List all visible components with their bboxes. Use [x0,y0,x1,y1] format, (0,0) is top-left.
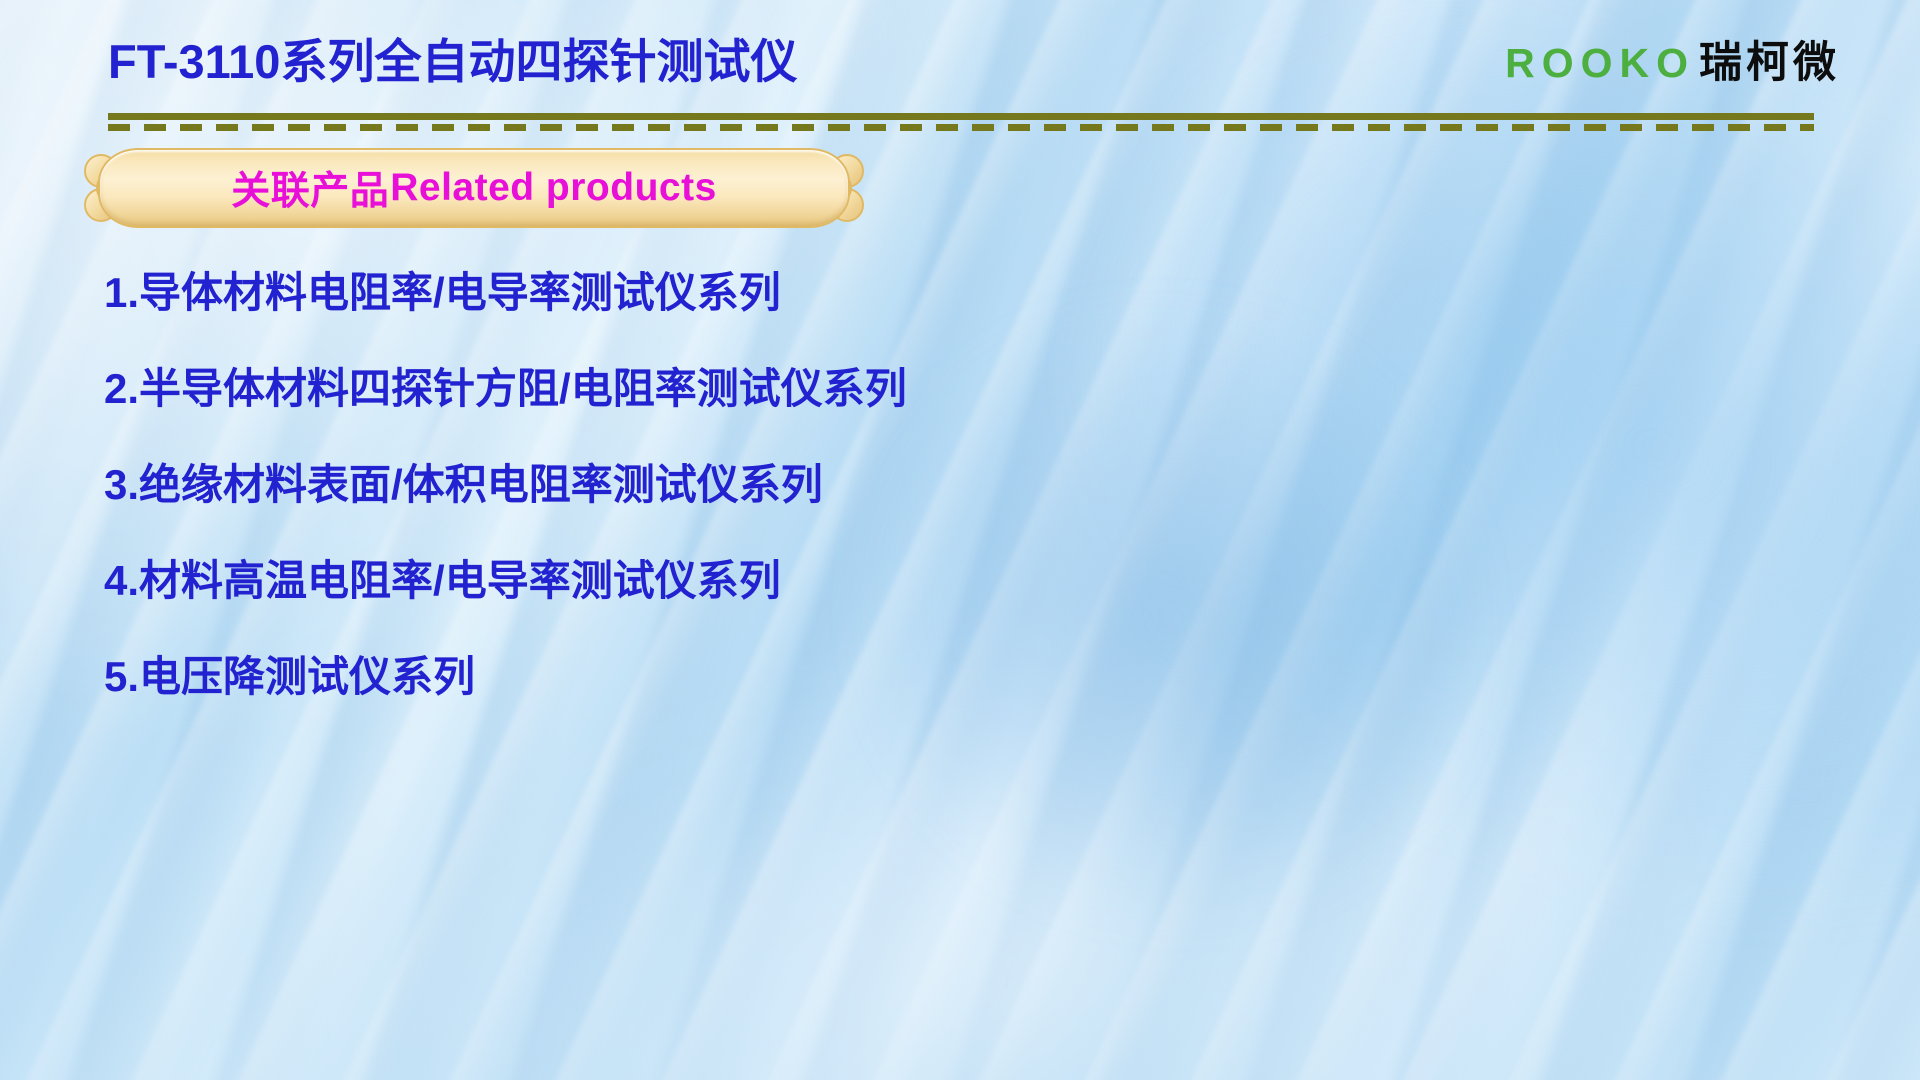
brand-logo-latin: ROOKO [1505,40,1695,86]
list-item: 4.材料高温电阻率/电导率测试仪系列 [104,560,1804,602]
related-products-list: 1.导体材料电阻率/电导率测试仪系列 2.半导体材料四探针方阻/电阻率测试仪系列… [104,272,1804,698]
banner-title: 关联产品Related products [98,148,850,228]
banner-title-english: Related products [390,166,717,210]
section-banner: 关联产品Related products [98,148,850,228]
header-divider-solid [108,113,1814,120]
list-item: 1.导体材料电阻率/电导率测试仪系列 [104,272,1804,314]
header-divider-dashed [108,124,1814,131]
list-item: 3.绝缘材料表面/体积电阻率测试仪系列 [104,464,1804,506]
page-title: FT-3110系列全自动四探针测试仪 [108,38,797,85]
brand-logo-chinese: 瑞柯微 [1699,39,1840,87]
slide-canvas: FT-3110系列全自动四探针测试仪 ROOKO瑞柯微 关联产品Related … [0,0,1920,1080]
list-item: 5.电压降测试仪系列 [104,656,1804,698]
slide-header: FT-3110系列全自动四探针测试仪 ROOKO瑞柯微 [0,0,1920,140]
list-item: 2.半导体材料四探针方阻/电阻率测试仪系列 [104,368,1804,410]
brand-logo: ROOKO瑞柯微 [1505,42,1840,85]
banner-title-chinese: 关联产品 [231,160,389,216]
